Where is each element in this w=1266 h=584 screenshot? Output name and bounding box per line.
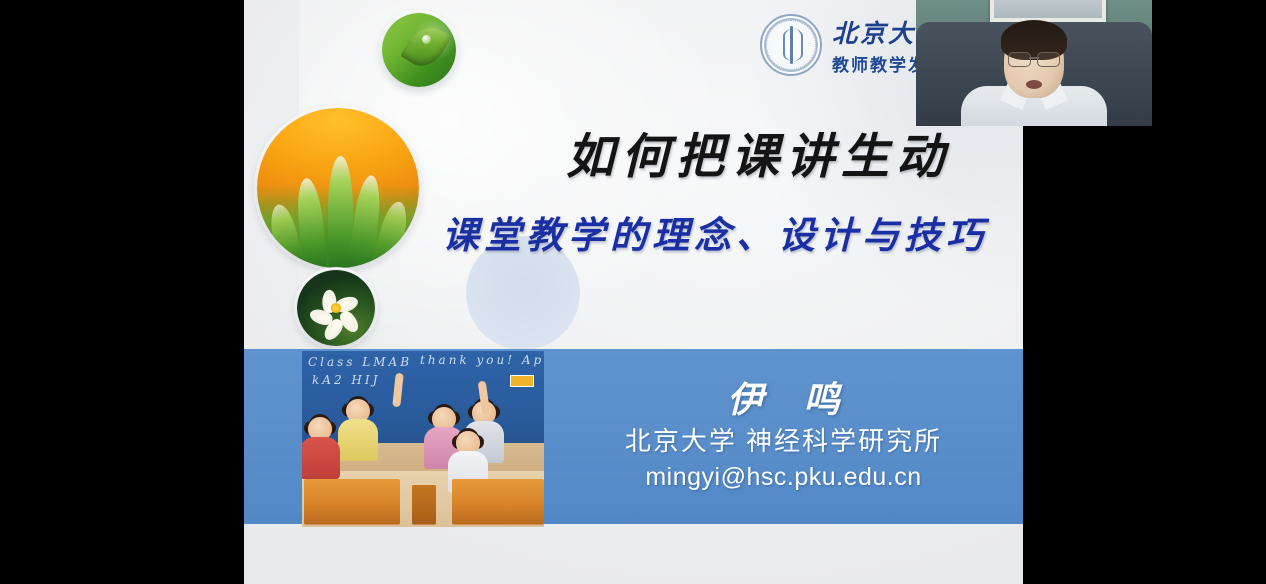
eyeglasses-icon	[1008, 52, 1060, 65]
presenter-mouth	[1026, 80, 1042, 89]
chalkboard-text: Class LMAB	[308, 355, 412, 369]
student-body	[338, 419, 378, 461]
classroom-children-photo: Class LMAB kA2 HIJ thank you! Apple Bed	[302, 351, 544, 527]
classroom-desk	[304, 479, 400, 525]
chalkboard-text: kA2 HIJ	[312, 373, 380, 387]
letterbox-left	[0, 0, 244, 584]
lens-left	[1008, 52, 1031, 67]
classroom-wall-card	[510, 375, 534, 387]
orange-tulip-photo-circle	[257, 108, 419, 268]
slide-subtitle: 课堂教学的理念、设计与技巧	[442, 205, 1012, 259]
pku-health-science-seal-icon	[760, 14, 822, 76]
presenter-webcam-pip[interactable]	[916, 0, 1152, 126]
leaf-blade-shape	[400, 19, 452, 73]
classroom-desk	[452, 479, 544, 525]
presentation-slide: 北京大学 教师教学发展中心 如何把课讲生动 课堂教学的理念、设计与技巧 Clas…	[244, 0, 1023, 584]
flower-circle-fill	[297, 270, 375, 346]
video-player-surface: 北京大学 教师教学发展中心 如何把课讲生动 课堂教学的理念、设计与技巧 Clas…	[0, 0, 1266, 584]
speaker-affiliation: 北京大学 神经科学研究所	[625, 425, 942, 458]
chalkboard-text: thank you! Apple Bed	[420, 353, 544, 367]
slide-title: 如何把课讲生动	[566, 117, 1002, 187]
tulip-circle-fill	[257, 108, 419, 268]
speaker-info: 伊 鸣 北京大学 神经科学研究所 mingyi@hsc.pku.edu.cn	[544, 349, 1023, 524]
framed-picture	[990, 0, 1106, 22]
classroom-desk	[412, 485, 436, 525]
green-leaf-photo-circle	[382, 13, 456, 87]
speaker-name: 伊 鸣	[713, 380, 854, 421]
speaker-band: Class LMAB kA2 HIJ thank you! Apple Bed	[244, 349, 1023, 524]
leaf-circle-fill	[382, 13, 456, 87]
white-plumeria-photo-circle	[297, 270, 375, 346]
seal-serpent-glyph	[783, 29, 803, 61]
student-body	[302, 437, 340, 479]
lens-right	[1037, 52, 1060, 67]
speaker-email: mingyi@hsc.pku.edu.cn	[645, 462, 921, 493]
tulip-leaf	[328, 156, 352, 268]
